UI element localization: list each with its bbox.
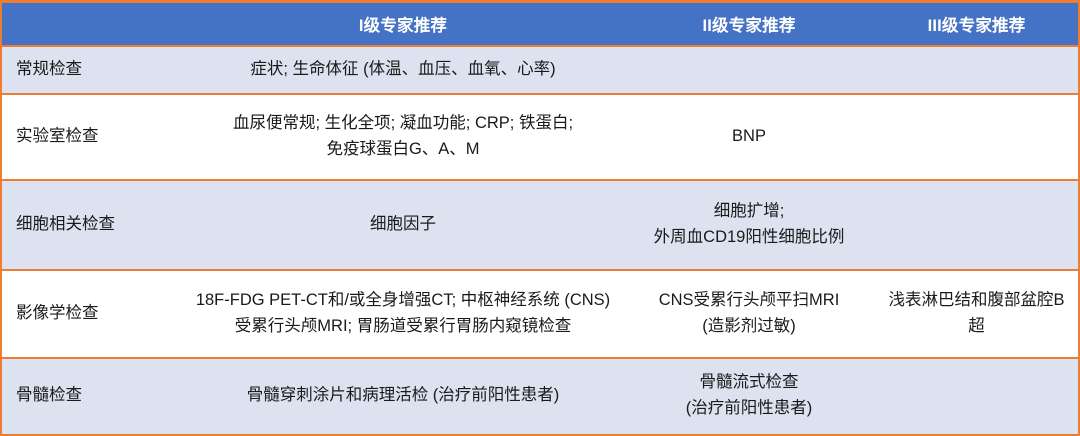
cell-line: 18F-FDG PET-CT和/或全身增强CT; 中枢神经系统 (CNS) (189, 288, 617, 314)
header-cell-level1: I级专家推荐 (183, 2, 623, 46)
table-header: I级专家推荐 II级专家推荐 III级专家推荐 (1, 2, 1079, 46)
cell-line: 外周血CD19阳性细胞比例 (629, 225, 869, 251)
row-category-label: 细胞相关检查 (1, 180, 183, 270)
cell-lines: BNP (629, 124, 869, 150)
cell-lines: 浅表淋巴结和腹部盆腔B超 (881, 288, 1072, 339)
cell-level1: 骨髓穿刺涂片和病理活检 (治疗前阳性患者) (183, 358, 623, 435)
cell-lines: 18F-FDG PET-CT和/或全身增强CT; 中枢神经系统 (CNS)受累行… (189, 288, 617, 339)
cell-line: (治疗前阳性患者) (629, 396, 869, 422)
cell-lines: 骨髓流式检查(治疗前阳性患者) (629, 370, 869, 421)
cell-line: 细胞因子 (189, 212, 617, 238)
cell-line: 浅表淋巴结和腹部盆腔B超 (881, 288, 1072, 339)
table-row: 常规检查 症状; 生命体征 (体温、血压、血氧、心率) (1, 46, 1079, 94)
examination-recommendation-table: I级专家推荐 II级专家推荐 III级专家推荐 常规检查 症状; 生命体征 (体… (0, 0, 1080, 436)
header-cell-level2: II级专家推荐 (623, 2, 875, 46)
cell-level3 (875, 180, 1079, 270)
cell-line: (造影剂过敏) (629, 314, 869, 340)
cell-level2: CNS受累行头颅平扫MRI(造影剂过敏) (623, 270, 875, 358)
cell-level2: 骨髓流式检查(治疗前阳性患者) (623, 358, 875, 435)
cell-line: 骨髓流式检查 (629, 370, 869, 396)
cell-lines: 血尿便常规; 生化全项; 凝血功能; CRP; 铁蛋白;免疫球蛋白G、A、M (189, 111, 617, 162)
cell-lines: 细胞因子 (189, 212, 617, 238)
header-row: I级专家推荐 II级专家推荐 III级专家推荐 (1, 2, 1079, 46)
table-row: 骨髓检查 骨髓穿刺涂片和病理活检 (治疗前阳性患者) 骨髓流式检查(治疗前阳性患… (1, 358, 1079, 435)
row-category-label: 实验室检查 (1, 94, 183, 180)
cell-level2: 细胞扩增;外周血CD19阳性细胞比例 (623, 180, 875, 270)
cell-lines: 骨髓穿刺涂片和病理活检 (治疗前阳性患者) (189, 383, 617, 409)
cell-line: 受累行头颅MRI; 胃肠道受累行胃肠内窥镜检查 (189, 314, 617, 340)
cell-level1: 血尿便常规; 生化全项; 凝血功能; CRP; 铁蛋白;免疫球蛋白G、A、M (183, 94, 623, 180)
cell-level1: 18F-FDG PET-CT和/或全身增强CT; 中枢神经系统 (CNS)受累行… (183, 270, 623, 358)
header-cell-category (1, 2, 183, 46)
row-category-label: 影像学检查 (1, 270, 183, 358)
cell-line: 骨髓穿刺涂片和病理活检 (治疗前阳性患者) (189, 383, 617, 409)
cell-level3 (875, 46, 1079, 94)
table-row: 细胞相关检查 细胞因子 细胞扩增;外周血CD19阳性细胞比例 (1, 180, 1079, 270)
table-row: 实验室检查 血尿便常规; 生化全项; 凝血功能; CRP; 铁蛋白;免疫球蛋白G… (1, 94, 1079, 180)
cell-level1: 细胞因子 (183, 180, 623, 270)
cell-level3: 浅表淋巴结和腹部盆腔B超 (875, 270, 1079, 358)
cell-level3 (875, 94, 1079, 180)
header-cell-level3: III级专家推荐 (875, 2, 1079, 46)
cell-lines: 症状; 生命体征 (体温、血压、血氧、心率) (189, 57, 617, 83)
cell-line: 症状; 生命体征 (体温、血压、血氧、心率) (189, 57, 617, 83)
cell-line: 免疫球蛋白G、A、M (189, 137, 617, 163)
cell-level1: 症状; 生命体征 (体温、血压、血氧、心率) (183, 46, 623, 94)
cell-lines: 细胞扩增;外周血CD19阳性细胞比例 (629, 199, 869, 250)
cell-line: CNS受累行头颅平扫MRI (629, 288, 869, 314)
cell-lines: CNS受累行头颅平扫MRI(造影剂过敏) (629, 288, 869, 339)
cell-line: 血尿便常规; 生化全项; 凝血功能; CRP; 铁蛋白; (189, 111, 617, 137)
cell-level2 (623, 46, 875, 94)
row-category-label: 常规检查 (1, 46, 183, 94)
cell-line: 细胞扩增; (629, 199, 869, 225)
cell-line: BNP (629, 124, 869, 150)
table-row: 影像学检查 18F-FDG PET-CT和/或全身增强CT; 中枢神经系统 (C… (1, 270, 1079, 358)
cell-level3 (875, 358, 1079, 435)
row-category-label: 骨髓检查 (1, 358, 183, 435)
cell-level2: BNP (623, 94, 875, 180)
table-body: 常规检查 症状; 生命体征 (体温、血压、血氧、心率) 实验室检查 血尿便常规;… (1, 46, 1079, 435)
